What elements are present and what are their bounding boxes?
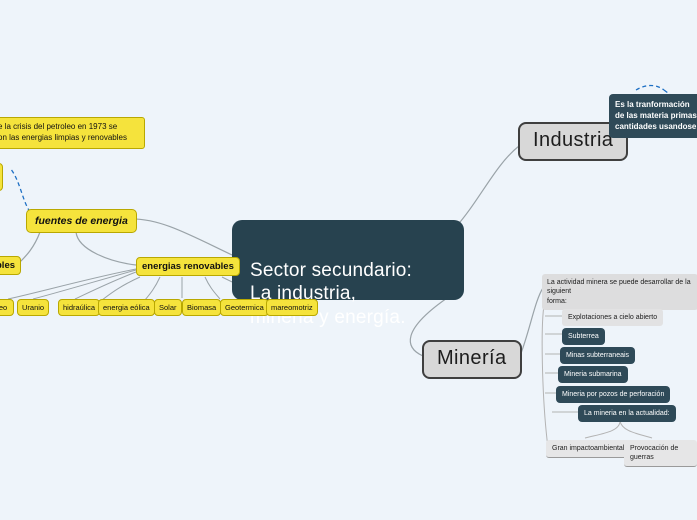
- branch-no-renovables[interactable]: bles: [0, 256, 21, 275]
- energy-source-mareomotriz[interactable]: mareomotriz: [266, 299, 318, 316]
- mineria-item-pozos-perforacion[interactable]: Mineria por pozos de perforación: [556, 386, 670, 403]
- mineria-actualidad-label: La mineria en la actualidad:: [584, 410, 670, 417]
- topic-mineria-label: Minería: [437, 347, 507, 369]
- energy-source-label: Geotermica: [225, 303, 264, 312]
- energy-source-uranio[interactable]: Uranio: [17, 299, 49, 316]
- energy-source-biomasa[interactable]: Biomasa: [182, 299, 221, 316]
- mineria-item-submarina[interactable]: Mineria submarina: [558, 366, 628, 383]
- mineria-item-label: Mineria submarina: [564, 371, 622, 378]
- industria-definition-note[interactable]: Es la tranformación de las materia prima…: [609, 94, 697, 138]
- energy-source-label: eo: [0, 303, 7, 312]
- mineria-consecuencia-impacto[interactable]: Gran impactoambiental: [546, 440, 630, 458]
- energy-source-eo[interactable]: eo: [0, 299, 14, 316]
- energy-source-label: mareomotriz: [271, 303, 313, 312]
- mineria-intro-text: La actividad minera se puede desarrollar…: [547, 279, 691, 305]
- crisis-petroleo-note[interactable]: e la crisis del petroleo en 1973 se on l…: [0, 117, 145, 149]
- mineria-item-cielo-abierto[interactable]: Explotaciones a cielo abierto: [562, 309, 663, 326]
- topic-industria-label: Industria: [533, 129, 613, 151]
- branch-fuentes-de-energia-label: fuentes de energia: [35, 215, 128, 227]
- branch-fuentes-de-energia[interactable]: fuentes de energia: [26, 209, 137, 233]
- energy-source-label: Biomasa: [187, 303, 216, 312]
- mineria-item-label: Subterrea: [568, 333, 599, 340]
- branch-no-renovables-label: bles: [0, 260, 15, 271]
- central-node[interactable]: Sector secundario: La industria, mineria…: [232, 220, 464, 300]
- energy-source-eolica[interactable]: energia eólica: [98, 299, 155, 316]
- mineria-consecuencia-label: Provocación de guerras: [630, 445, 678, 461]
- energy-source-label: energia eólica: [103, 303, 150, 312]
- mineria-actualidad-node[interactable]: La mineria en la actualidad:: [578, 405, 676, 422]
- crisis-petroleo-text: e la crisis del petroleo en 1973 se on l…: [0, 122, 127, 142]
- mindmap-canvas: Sector secundario: La industria, mineria…: [0, 0, 697, 520]
- mineria-item-subterrea[interactable]: Subterrea: [562, 328, 605, 345]
- mineria-consecuencia-guerras[interactable]: Provocación de guerras: [624, 440, 697, 467]
- energy-source-solar[interactable]: Solar: [154, 299, 182, 316]
- branch-energias-renovables[interactable]: energias renovables: [136, 257, 240, 276]
- mineria-item-label: Mineria por pozos de perforación: [562, 391, 664, 398]
- mineria-consecuencia-label: Gran impactoambiental: [552, 445, 624, 452]
- mineria-item-label: Minas subterraneais: [566, 352, 629, 359]
- energy-source-geotermica[interactable]: Geotermica: [220, 299, 269, 316]
- mineria-item-minas-subterraneas[interactable]: Minas subterraneais: [560, 347, 635, 364]
- topic-mineria[interactable]: Minería: [422, 340, 522, 379]
- clipped-left-node[interactable]: [0, 163, 3, 191]
- industria-definition-text: Es la tranformación de las materia prima…: [615, 100, 697, 131]
- mineria-item-label: Explotaciones a cielo abierto: [568, 314, 657, 321]
- branch-energias-renovables-label: energias renovables: [142, 261, 234, 272]
- energy-source-label: Solar: [159, 303, 177, 312]
- energy-source-hidraulica[interactable]: hidraúlica: [58, 299, 100, 316]
- energy-source-label: Uranio: [22, 303, 44, 312]
- energy-source-label: hidraúlica: [63, 303, 95, 312]
- mineria-intro-note[interactable]: La actividad minera se puede desarrollar…: [542, 274, 697, 310]
- central-node-label: Sector secundario: La industria, mineria…: [250, 260, 412, 327]
